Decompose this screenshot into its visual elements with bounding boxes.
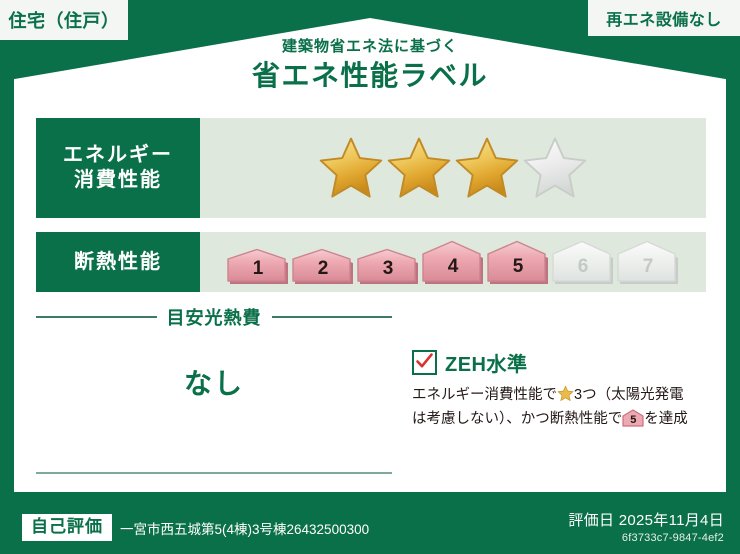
zeh-desc-part2: は考慮しない）、かつ断熱性能で	[412, 411, 622, 427]
insulation-level-badge-3: 3	[357, 248, 419, 284]
zeh-desc-stars: 3つ（太陽光発電	[574, 387, 684, 403]
zeh-title: ZEH水準	[445, 348, 528, 377]
star-icon-filled	[386, 135, 452, 201]
footer-left: 自己評価 一宮市西五城第5(4棟)3号棟26432500300	[22, 514, 369, 541]
insulation-performance-label-box: 断熱性能	[36, 232, 200, 292]
insulation-level-number: 7	[617, 257, 679, 276]
energy-performance-label-line2: 消費性能	[74, 168, 162, 193]
document-id: 6f3733c7-9847-4ef2	[568, 532, 724, 544]
title-subtitle: 建築物省エネ法に基づく	[14, 38, 726, 56]
star-icon-filled	[318, 135, 384, 201]
heading-rule-right	[272, 316, 393, 318]
page-title: 建築物省エネ法に基づく 省エネ性能ラベル	[14, 38, 726, 93]
title-main: 省エネ性能ラベル	[14, 59, 726, 93]
energy-performance-label-line1: エネルギー	[63, 143, 173, 168]
zeh-desc-part3: を達成	[644, 411, 688, 427]
utility-cost-heading-text: 目安光熱費	[167, 304, 262, 330]
insulation-level-number: 4	[422, 257, 484, 276]
utility-cost-bottom-rule	[36, 472, 392, 474]
insulation-performance-label: 断熱性能	[74, 250, 162, 275]
self-evaluation-badge: 自己評価	[22, 514, 112, 541]
insulation-level-badge-5: 5	[487, 240, 549, 284]
insulation-level-number: 2	[292, 259, 354, 278]
zeh-block: ZEH水準 エネルギー消費性能で 3つ（太陽光発電 は考慮しない）、かつ断熱性能…	[412, 348, 706, 432]
energy-performance-value	[200, 118, 706, 218]
insulation-level-badge-inline: 5	[622, 409, 644, 427]
footer-right: 評価日 2025年11月4日 6f3733c7-9847-4ef2	[568, 509, 724, 544]
lower-section: 目安光熱費 なし ZEH水準 エネルギー消費性	[36, 304, 706, 484]
zeh-description: エネルギー消費性能で 3つ（太陽光発電 は考慮しない）、かつ断熱性能で 5を達成	[412, 384, 706, 432]
insulation-level-badge-6: 6	[552, 240, 614, 284]
insulation-level-scale: 1234567	[227, 240, 679, 284]
star-icon-filled	[454, 135, 520, 201]
zeh-desc-part1: エネルギー消費性能で	[412, 387, 557, 403]
insulation-level-number: 3	[357, 259, 419, 278]
insulation-level-badge-7: 7	[617, 240, 679, 284]
utility-cost-value: なし	[36, 362, 392, 402]
insulation-level-number: 6	[552, 257, 614, 276]
star-icon-inline	[557, 385, 574, 402]
star-icon-empty	[522, 135, 588, 201]
insulation-performance-value: 1234567	[200, 232, 706, 292]
check-icon	[415, 352, 434, 371]
footer: 自己評価 一宮市西五城第5(4棟)3号棟26432500300 評価日 2025…	[0, 494, 740, 554]
insulation-level-badge-2: 2	[292, 248, 354, 284]
utility-cost-heading: 目安光熱費	[36, 304, 392, 330]
zeh-heading: ZEH水準	[412, 348, 706, 377]
insulation-performance-row: 断熱性能 1234567	[36, 232, 706, 292]
energy-performance-row: エネルギー 消費性能	[36, 118, 706, 218]
insulation-level-number: 1	[227, 259, 289, 278]
insulation-level-badge-1: 1	[227, 248, 289, 284]
evaluation-date: 評価日 2025年11月4日	[568, 509, 724, 530]
zeh-checkbox	[412, 350, 437, 375]
energy-performance-label: 住宅（住戸） 再エネ設備なし 建築物省エネ法に基づく 省エネ性能ラベル エネルギ…	[0, 0, 740, 554]
main-panel: 建築物省エネ法に基づく 省エネ性能ラベル エネルギー 消費性能 断熱性能	[14, 18, 726, 492]
heading-rule-left	[36, 316, 157, 318]
insulation-level-badge-4: 4	[422, 240, 484, 284]
insulation-level-badge-inline-num: 5	[622, 415, 644, 426]
insulation-level-number: 5	[487, 257, 549, 276]
star-rating	[318, 135, 588, 201]
energy-performance-label-box: エネルギー 消費性能	[36, 118, 200, 218]
property-name: 一宮市西五城第5(4棟)3号棟26432500300	[120, 518, 369, 538]
